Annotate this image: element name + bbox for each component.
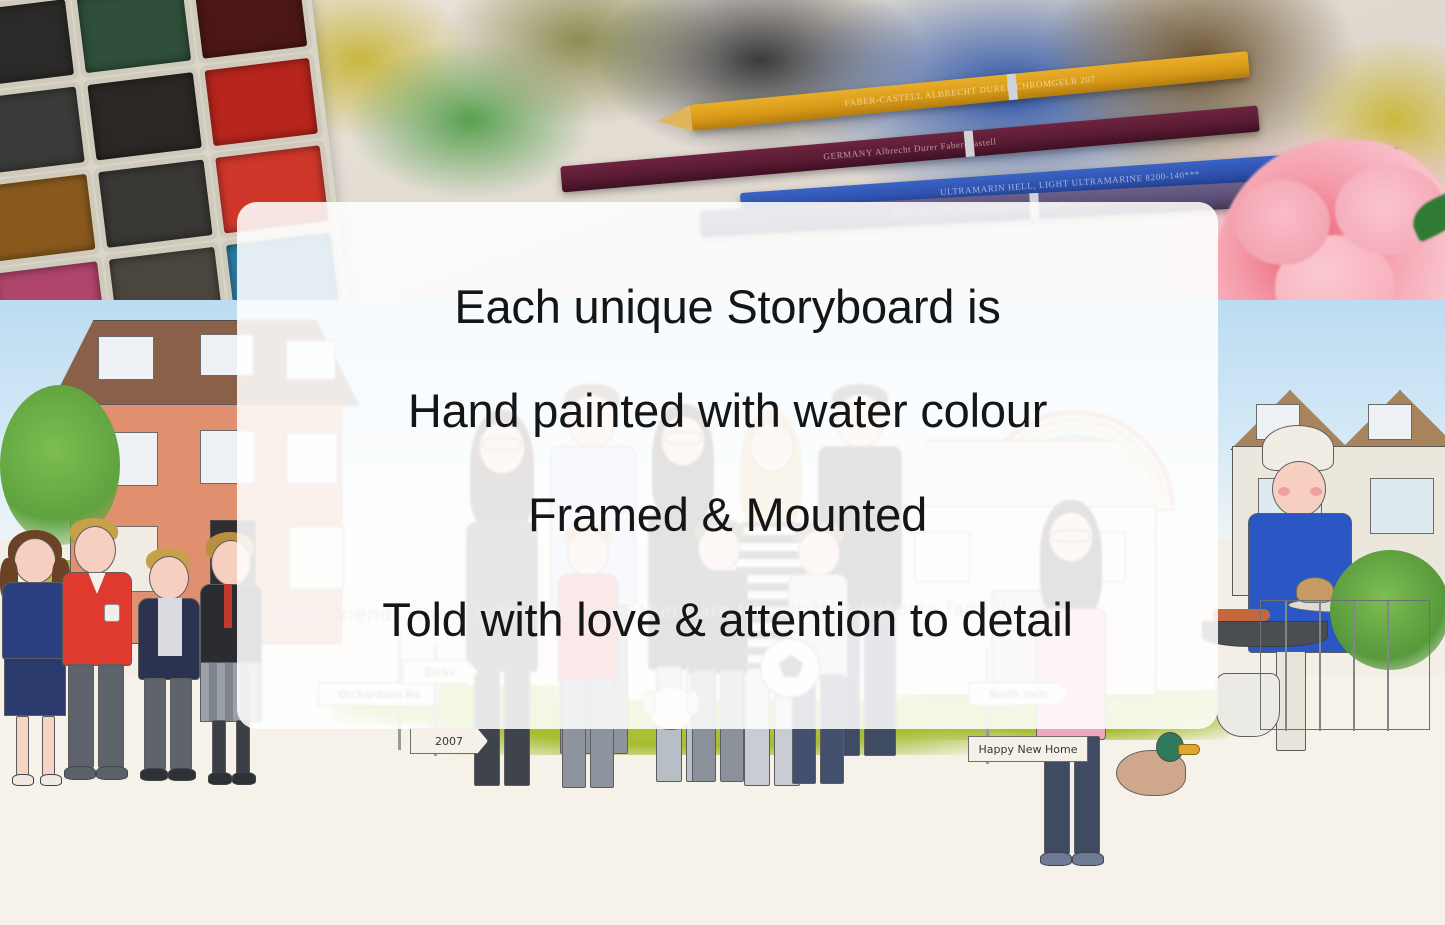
shoe [12,774,34,786]
paint-pan [0,86,85,174]
leg [42,716,55,776]
paint-pan [88,72,202,160]
duck-beak [1178,744,1200,755]
shoe [96,766,128,780]
trousers [68,664,94,768]
shoe [1072,852,1104,866]
promo-text-overlay: Each unique Storyboard is Hand painted w… [237,202,1218,729]
leg [16,716,29,776]
paint-pan [98,160,212,248]
sign-happy-new-home: Happy New Home [968,736,1088,762]
overlay-line-4: Told with love & attention to detail [382,595,1072,646]
cheek [1310,487,1322,496]
sign-2007: 2007 [410,728,488,754]
gate-bar [1319,601,1321,731]
trousers [170,678,192,770]
overlay-line-1: Each unique Storyboard is [454,282,1000,333]
head [149,556,189,600]
rose-petal [1235,180,1330,265]
iron-gate [1260,600,1430,730]
leg [236,720,250,774]
image-canvas: FABER-CASTELL ALBRECHT DURER CHROMGELB 2… [0,0,1445,925]
head [14,538,56,584]
pencil-band [1007,74,1018,101]
cheek [1278,487,1290,496]
pencil-band [964,130,975,157]
trousers [98,664,124,768]
shoe [168,768,196,781]
shoe [40,774,62,786]
shoe [232,772,256,785]
gate-bar [1387,601,1389,731]
shirt [158,598,182,656]
head [74,526,116,574]
pencil-tip-icon [656,105,692,134]
school-badge [104,604,120,622]
overlay-line-2: Hand painted with water colour [408,386,1047,437]
paint-pan [204,58,318,146]
gate-bar [1353,601,1355,731]
paint-pan [0,0,74,87]
leg [212,720,226,774]
dormer-window [98,336,154,380]
overlay-line-3: Framed & Mounted [528,490,927,541]
paint-pan [0,174,96,262]
gate-bar [1285,601,1287,731]
paint-pan [77,0,191,73]
tie [224,584,232,628]
shoe [140,768,168,781]
duck-figure [1100,730,1198,802]
skirt [4,658,66,716]
shoe [64,766,96,780]
shoe [1040,852,1072,866]
jumper [2,582,68,660]
shoe [208,772,232,785]
paint-pan [193,0,307,59]
trousers [144,678,166,770]
